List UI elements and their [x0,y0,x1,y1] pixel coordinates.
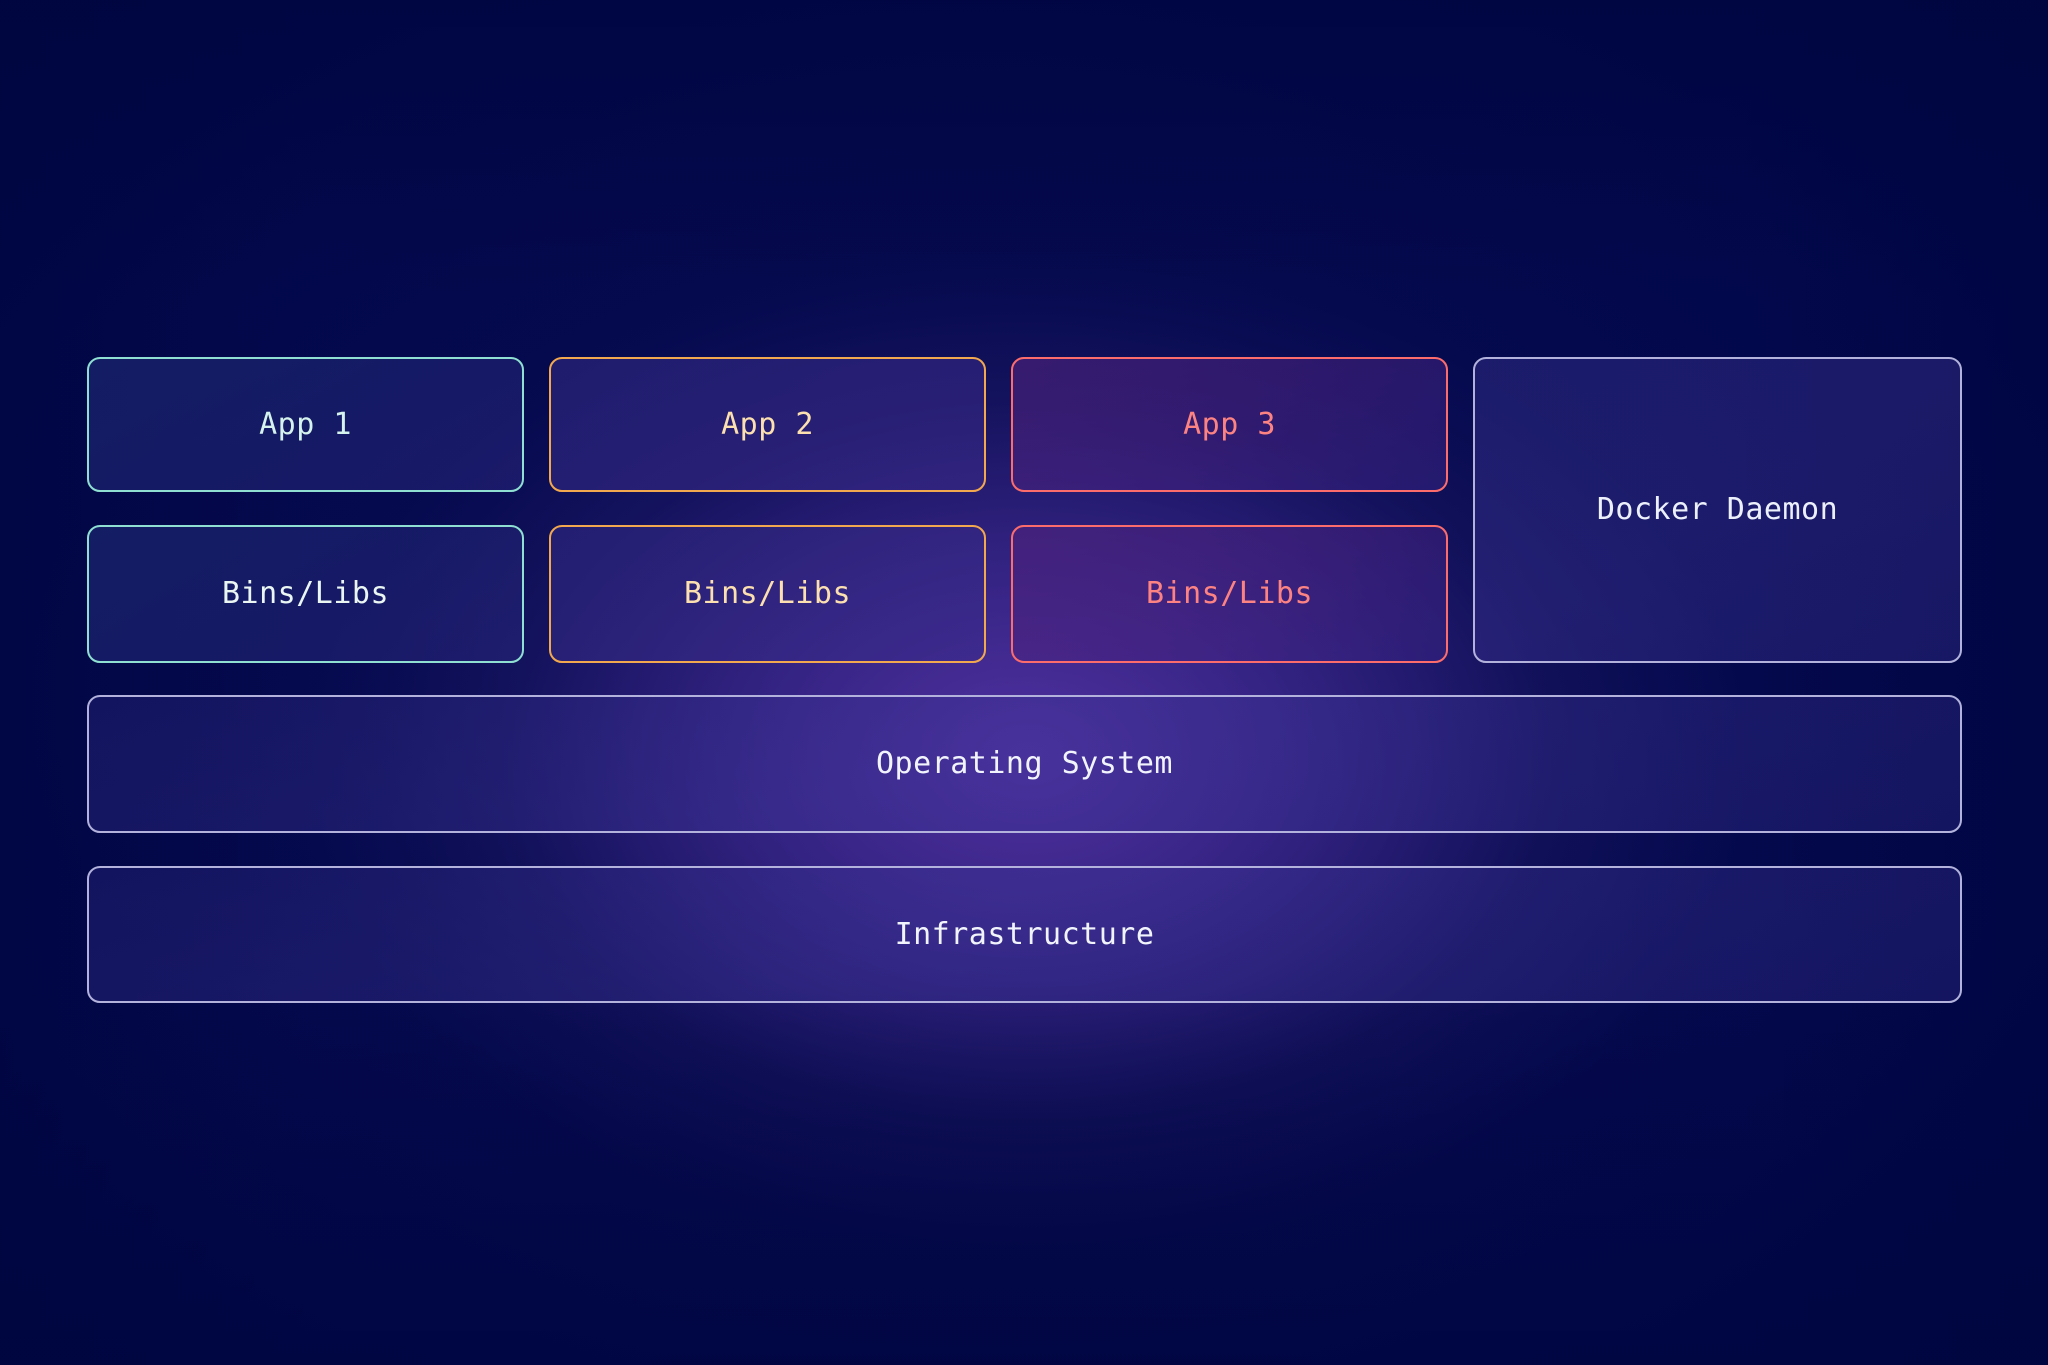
node-operating-system[interactable]: Operating System [87,695,1962,833]
node-app-3[interactable]: App 3 [1011,357,1448,492]
node-bins-libs-2-label: Bins/Libs [684,576,851,612]
node-docker-daemon[interactable]: Docker Daemon [1473,357,1962,663]
node-app-2[interactable]: App 2 [549,357,986,492]
node-app-1-label: App 1 [259,407,352,443]
node-infrastructure[interactable]: Infrastructure [87,866,1962,1003]
node-bins-libs-3[interactable]: Bins/Libs [1011,525,1448,663]
node-docker-daemon-label: Docker Daemon [1597,492,1838,528]
node-bins-libs-2[interactable]: Bins/Libs [549,525,986,663]
node-app-3-label: App 3 [1183,407,1276,443]
node-bins-libs-1-label: Bins/Libs [222,576,389,612]
node-infrastructure-label: Infrastructure [895,917,1155,953]
node-app-1[interactable]: App 1 [87,357,524,492]
node-operating-system-label: Operating System [876,746,1173,782]
node-bins-libs-3-label: Bins/Libs [1146,576,1313,612]
node-app-2-label: App 2 [721,407,814,443]
docker-architecture-diagram: App 1 App 2 App 3 Docker Daemon Bins/Lib… [0,0,2048,1365]
node-bins-libs-1[interactable]: Bins/Libs [87,525,524,663]
